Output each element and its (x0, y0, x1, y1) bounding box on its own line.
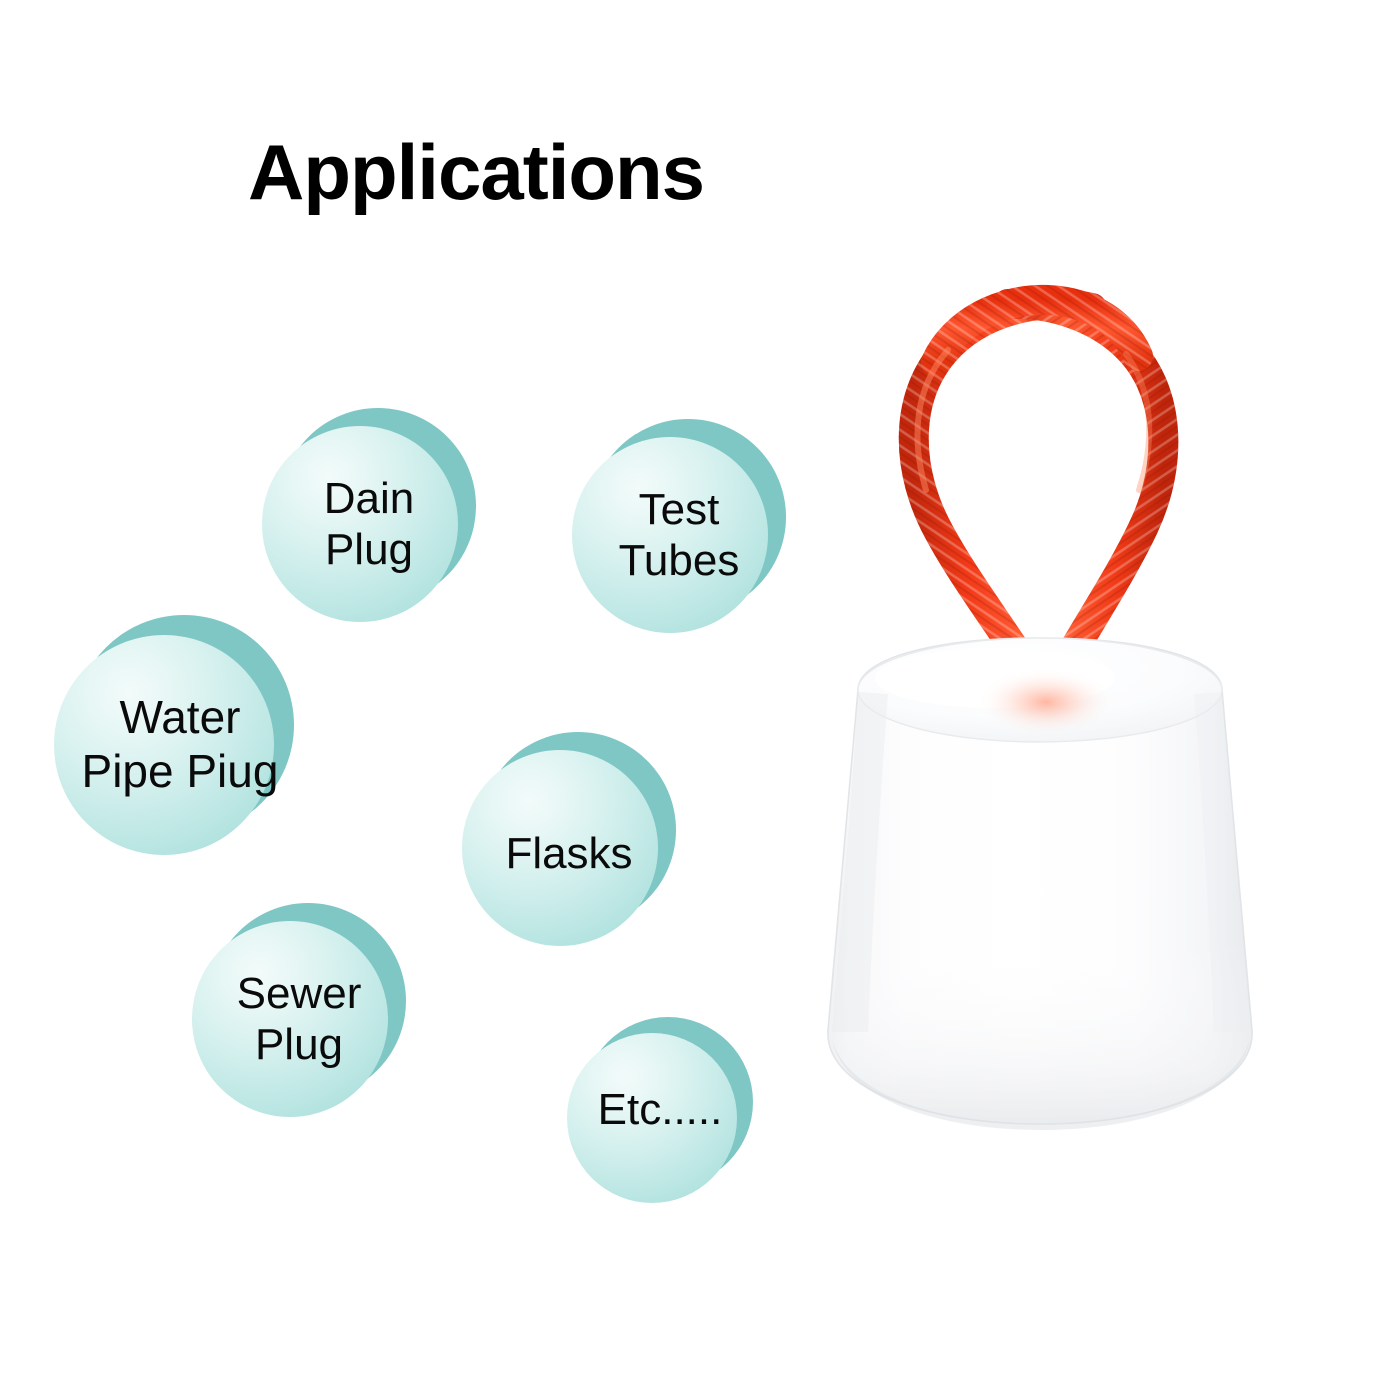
page-title: Applications (248, 133, 704, 211)
application-bubble-etc[interactable]: Etc..... (567, 1017, 753, 1203)
product-photo (740, 240, 1360, 1200)
bubble-face-circle (572, 437, 768, 633)
bubble-face-circle (54, 635, 274, 855)
application-bubble-flasks[interactable]: Flasks (462, 732, 676, 946)
application-bubble-drain-plug[interactable]: Dain Plug (262, 408, 476, 622)
application-bubble-sewer-plug[interactable]: Sewer Plug (192, 903, 406, 1117)
infographic-canvas: Applications Dain PlugTest TubesWater Pi… (0, 0, 1400, 1400)
bubble-face-circle (462, 750, 658, 946)
application-bubble-water-pipe-plug[interactable]: Water Pipe Piug (54, 615, 294, 855)
bubble-face-circle (567, 1033, 737, 1203)
bubble-face-circle (192, 921, 388, 1117)
silicone-stopper-body (828, 638, 1252, 1130)
bubble-face-circle (262, 426, 458, 622)
